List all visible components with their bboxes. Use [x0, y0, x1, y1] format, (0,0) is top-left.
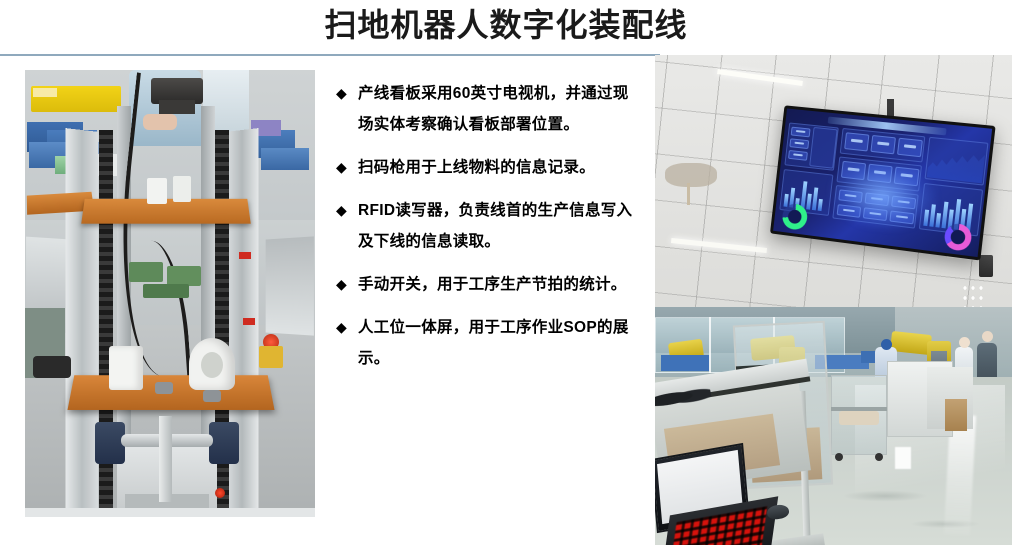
- glass-mullion-1: [709, 317, 711, 373]
- production-kanban-screen: [773, 108, 992, 257]
- white-fixture-2: [173, 176, 191, 202]
- blue-tote-1: [661, 355, 709, 371]
- green-pcb-module-3: [143, 284, 189, 298]
- diamond-bullet-icon: ◆: [336, 152, 358, 183]
- bullet-text: 产线看板采用60英寸电视机，并通过现场实体考察确认看板部署位置。: [358, 78, 636, 140]
- white-fixture-1: [147, 178, 167, 204]
- locating-pin-1: [155, 382, 173, 394]
- red-indicator-button: [215, 488, 225, 498]
- conveyor-rail-left: [65, 128, 98, 517]
- bullet-kanban-tv: ◆ 产线看板采用60英寸电视机，并通过现场实体考察确认看板部署位置。: [336, 78, 636, 140]
- white-fixture-4-bore: [201, 352, 223, 378]
- locating-pin-2: [203, 390, 221, 402]
- worker-2-head: [959, 337, 970, 348]
- cardboard-box: [945, 399, 967, 431]
- bullet-text: RFID读写器，负责线首的生产信息写入及下线的信息读取。: [358, 195, 636, 257]
- bullet-scanner: ◆ 扫码枪用于上线物料的信息记录。: [336, 152, 636, 183]
- kpi-card-1: [844, 132, 869, 151]
- cart-load: [839, 411, 879, 425]
- page-title: 扫地机器人数字化装配线: [0, 2, 1012, 48]
- red-tape-marker-1: [239, 252, 251, 259]
- white-fixture-3: [109, 346, 143, 390]
- diamond-bullet-icon: ◆: [336, 312, 358, 343]
- diamond-bullet-icon: ◆: [336, 269, 358, 300]
- kpi-card-b: [789, 138, 809, 149]
- emergency-stop-base: [259, 346, 283, 368]
- kpi-card-3: [897, 138, 923, 158]
- diamond-bullet-icon: ◆: [336, 195, 358, 226]
- screen-glare: [826, 156, 940, 236]
- ceiling-stain: [665, 163, 717, 187]
- worker-1-cap: [881, 339, 892, 350]
- right-side-frame: [266, 236, 314, 335]
- kpi-card-2: [870, 135, 896, 154]
- conveyor-base-rail: [25, 508, 315, 517]
- kpi-card-a: [791, 127, 811, 138]
- cart-wheel-1: [835, 453, 843, 461]
- ceiling-hook: [687, 183, 690, 205]
- conveyor-assembly-line-photo: [25, 70, 315, 517]
- bullet-text: 手动开关，用于工序生产节拍的统计。: [358, 269, 636, 300]
- red-tape-marker-2: [243, 318, 255, 325]
- bullet-rfid: ◆ RFID读写器，负责线首的生产信息写入及下线的信息读取。: [336, 195, 636, 257]
- linear-shaft-vertical: [159, 416, 172, 502]
- title-divider: [0, 54, 660, 56]
- blue-parts-bin-5: [261, 148, 309, 170]
- cart-wheel-2: [875, 453, 883, 461]
- bullet-switch: ◆ 手动开关，用于工序生产节拍的统计。: [336, 269, 636, 300]
- bullet-text: 扫码枪用于上线物料的信息记录。: [358, 152, 636, 183]
- floor-reflection-3: [895, 447, 911, 469]
- kanban-tv-60inch: [770, 105, 996, 260]
- slide-root: 扫地机器人数字化装配线: [0, 0, 1012, 545]
- ceiling-speaker: [979, 255, 993, 277]
- floor-cable-bundle: [33, 356, 71, 378]
- diamond-bullet-icon: ◆: [336, 78, 358, 109]
- bearing-block-right: [209, 422, 239, 464]
- bullet-list: ◆ 产线看板采用60英寸电视机，并通过现场实体考察确认看板部署位置。 ◆ 扫码枪…: [336, 78, 636, 386]
- worker-3-head: [982, 331, 993, 342]
- green-pcb-module-1: [129, 262, 163, 282]
- bullet-text: 人工位一体屏，用于工序作业SOP的展示。: [358, 312, 636, 374]
- bin-label-tag: [33, 88, 57, 97]
- bullet-sop-screen: ◆ 人工位一体屏，用于工序作业SOP的展示。: [336, 312, 636, 374]
- factory-floor-dashboard-photo: [655, 55, 1012, 545]
- green-pcb-module-2: [167, 266, 201, 286]
